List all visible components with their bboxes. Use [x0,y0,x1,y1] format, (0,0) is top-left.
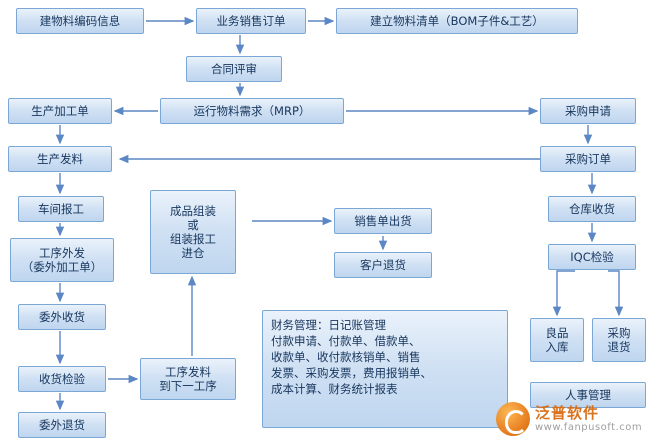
brand-logo-icon [496,402,530,436]
node-iqc-inspection[interactable]: IQC检验 [548,244,636,270]
node-contract-review[interactable]: 合同评审 [186,56,282,82]
node-purchase-requisition[interactable]: 采购申请 [540,98,636,124]
node-issue-to-next-process[interactable]: 工序发料 到下一工序 [140,358,236,400]
node-good-products-instock[interactable]: 良品 入库 [530,318,584,362]
node-sales-order[interactable]: 业务销售订单 [196,8,306,34]
note-finance-management: 财务管理：日记账管理 付款申请、付款单、借款单、 收款单、收付款核销单、销售 发… [262,310,508,428]
node-sales-shipment[interactable]: 销售单出货 [334,208,432,234]
node-production-work-order[interactable]: 生产加工单 [8,98,112,124]
flowchart-canvas: 建物料编码信息 业务销售订单 建立物料清单（BOM子件&工艺） 合同评审 生产加… [0,0,652,445]
node-receipt-inspection[interactable]: 收货检验 [18,366,106,392]
node-finished-goods-assembly[interactable]: 成品组装 或 组装报工 进仓 [150,190,236,274]
watermark: 泛普软件 www.fanpusoft.com [496,397,646,441]
node-warehouse-receipt[interactable]: 仓库收货 [548,196,636,222]
node-material-code-info[interactable]: 建物料编码信息 [16,8,144,34]
node-customer-return[interactable]: 客户退货 [334,252,432,278]
node-bom-setup[interactable]: 建立物料清单（BOM子件&工艺） [336,8,578,34]
node-outsourced-return[interactable]: 委外退货 [18,412,106,438]
node-outsourced-process[interactable]: 工序外发 （委外加工单） [10,238,114,282]
node-outsourced-receipt[interactable]: 委外收货 [18,304,106,330]
node-workshop-reporting[interactable]: 车间报工 [18,196,104,222]
node-production-material-issue[interactable]: 生产发料 [8,146,112,172]
node-purchase-return[interactable]: 采购 退货 [592,318,646,362]
watermark-url: www.fanpusoft.com [535,422,642,434]
watermark-brand: 泛普软件 [535,405,642,422]
node-purchase-order[interactable]: 采购订单 [540,146,636,172]
node-run-mrp[interactable]: 运行物料需求（MRP） [160,98,344,124]
